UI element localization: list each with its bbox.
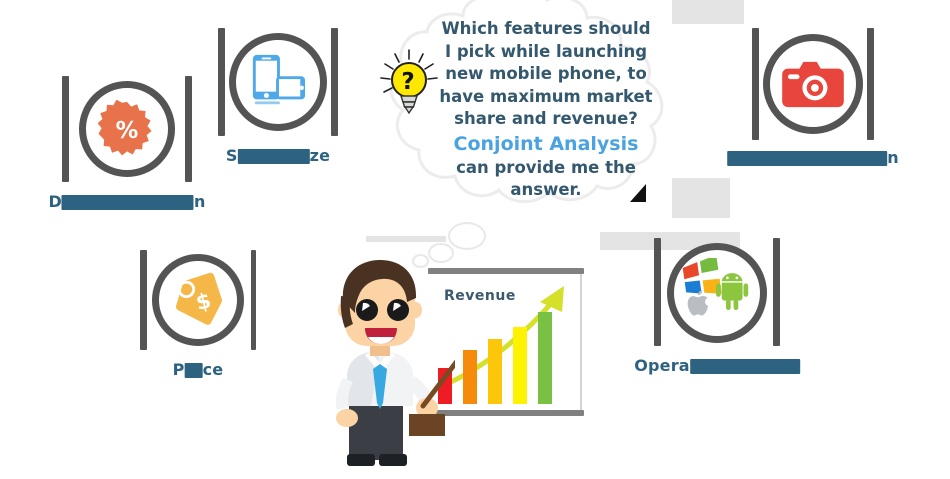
attribute-label-screen-size: Sze bbox=[226, 146, 330, 165]
label-suffix: ze bbox=[310, 146, 331, 165]
camera-icon-ring bbox=[763, 34, 863, 134]
attribute-screen-size[interactable]: Sze bbox=[218, 28, 338, 136]
operating-system-icon-ring bbox=[667, 243, 767, 343]
label-redaction-bar bbox=[727, 151, 887, 166]
attribute-camera-resolution[interactable]: n bbox=[752, 28, 874, 140]
bubble-line-4: have maximum market bbox=[435, 86, 657, 109]
label-redaction-bar bbox=[185, 363, 203, 378]
frame-bracket-left bbox=[62, 76, 69, 182]
chart-bar bbox=[513, 327, 527, 404]
percent-badge-icon: % bbox=[98, 100, 156, 158]
frame-bracket-left bbox=[140, 250, 147, 350]
presenter-businessman bbox=[305, 248, 455, 475]
svg-text:?: ? bbox=[401, 69, 414, 95]
label-redaction-bar bbox=[690, 359, 800, 374]
frame-bracket-left bbox=[218, 28, 225, 136]
frame-bracket-right bbox=[251, 250, 256, 350]
thought-bubble: Which features should I pick while launc… bbox=[355, 0, 675, 232]
frame-bracket-right bbox=[867, 28, 874, 140]
frame-bracket-right bbox=[773, 238, 780, 346]
label-redaction-bar bbox=[62, 195, 194, 210]
attribute-label-camera-resolution: n bbox=[727, 148, 899, 167]
price-tag-icon: $ bbox=[169, 272, 227, 328]
attribute-price[interactable]: $ Pce bbox=[140, 250, 256, 350]
attribute-discount[interactable]: % Dn bbox=[62, 76, 192, 182]
bubble-line-3: new mobile phone, to bbox=[435, 63, 657, 86]
grey-placeholder-middle bbox=[672, 178, 730, 218]
label-prefix: P bbox=[173, 360, 185, 379]
label-suffix: ce bbox=[203, 360, 224, 379]
infographic-canvas: % Dn bbox=[0, 0, 950, 475]
chart-bar bbox=[488, 339, 502, 404]
label-redaction-bar bbox=[238, 149, 310, 164]
conjoint-analysis-highlight: Conjoint Analysis bbox=[435, 131, 657, 157]
bubble-tail-line-1: can provide me the bbox=[435, 157, 657, 180]
label-suffix: n bbox=[194, 192, 206, 211]
label-prefix: S bbox=[226, 146, 238, 165]
frame-bracket-left bbox=[752, 28, 759, 140]
two-phones-icon bbox=[247, 53, 309, 111]
thought-dot-large bbox=[448, 222, 486, 250]
label-suffix: n bbox=[887, 148, 899, 167]
os-logos-icon bbox=[680, 258, 754, 328]
svg-text:%: % bbox=[116, 118, 139, 144]
label-prefix: Opera bbox=[634, 356, 690, 375]
attribute-label-price: Pce bbox=[173, 360, 224, 379]
label-prefix: D bbox=[48, 192, 61, 211]
price-icon-ring: $ bbox=[152, 254, 244, 346]
discount-icon-ring: % bbox=[79, 81, 175, 177]
frame-bracket-left bbox=[654, 238, 661, 346]
attribute-operating-system[interactable]: Opera bbox=[654, 238, 780, 346]
revenue-bar-chart bbox=[438, 308, 568, 404]
screen-size-icon-ring bbox=[229, 33, 327, 131]
attribute-label-discount: Dn bbox=[48, 192, 205, 211]
grey-placeholder-board-left bbox=[366, 236, 446, 242]
frame-bracket-right bbox=[331, 28, 338, 136]
attribute-label-operating-system: Opera bbox=[634, 356, 800, 375]
chart-bar bbox=[463, 350, 477, 404]
bubble-line-1: Which features should bbox=[435, 18, 657, 41]
thought-bubble-text: Which features should I pick while launc… bbox=[435, 18, 657, 202]
bubble-tail-line-2: answer. bbox=[435, 179, 657, 202]
bubble-line-2: I pick while launching bbox=[435, 41, 657, 64]
frame-bracket-right bbox=[185, 76, 192, 182]
grey-placeholder-top bbox=[672, 0, 744, 24]
chart-bar bbox=[538, 312, 552, 404]
camera-icon bbox=[780, 58, 846, 110]
bubble-line-5: share and revenue? bbox=[435, 108, 657, 131]
